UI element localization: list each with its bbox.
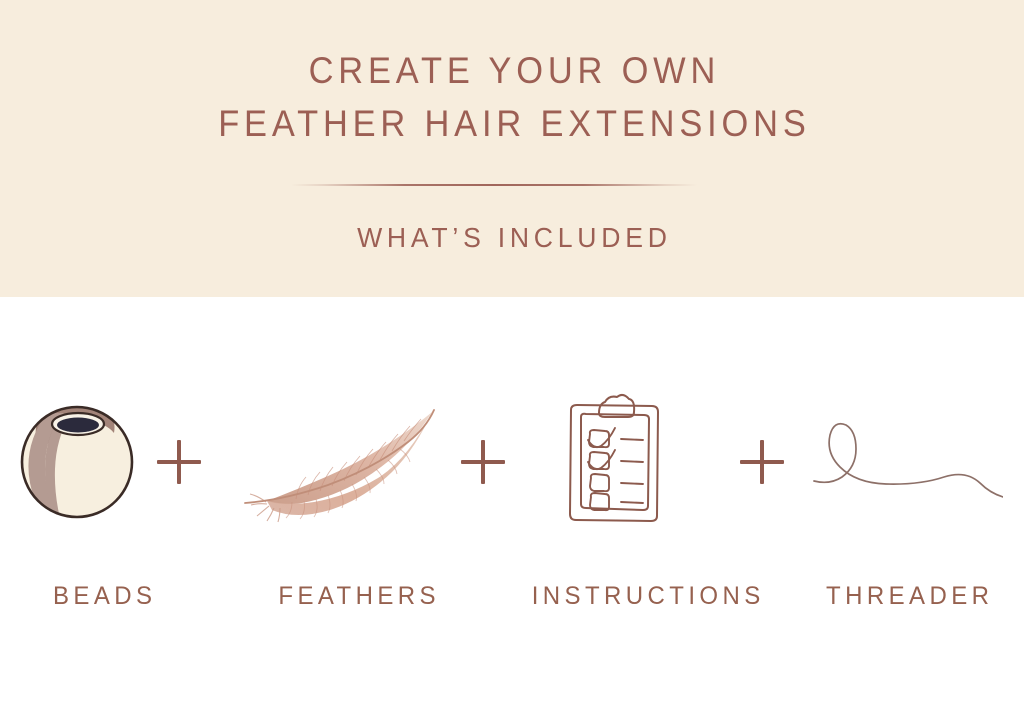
clipboard-board — [570, 405, 658, 521]
bead-icon — [14, 397, 140, 523]
bead-hole — [57, 418, 99, 433]
label-threader: THREADER — [800, 582, 1016, 611]
label-beads: BEADS — [4, 582, 201, 611]
clipboard-checklist-icon — [555, 390, 675, 530]
label-feathers: FEATHERS — [233, 582, 481, 611]
feather-icon — [236, 398, 451, 523]
divider-rule — [291, 184, 697, 186]
checklist-line-4 — [621, 502, 643, 503]
labels-row: BEADS FEATHERS INSTRUCTIONS THREADER — [0, 582, 1024, 622]
checkbox-3 — [590, 474, 609, 491]
title-line-2: FEATHER HAIR EXTENSIONS — [36, 97, 988, 150]
plus-icon — [461, 440, 505, 484]
item-threader — [800, 380, 1010, 540]
items-row — [0, 380, 1024, 540]
item-instructions — [530, 380, 700, 540]
page-title: CREATE YOUR OWN FEATHER HAIR EXTENSIONS — [0, 44, 1024, 150]
plus-icon — [740, 440, 784, 484]
subtitle: WHAT’S INCLUDED — [26, 222, 999, 254]
threader-wire-path — [814, 424, 1003, 497]
item-feathers — [228, 380, 458, 540]
checklist-line-1 — [621, 439, 643, 440]
promo-graphic: CREATE YOUR OWN FEATHER HAIR EXTENSIONS … — [0, 0, 1024, 724]
plus-icon — [157, 440, 201, 484]
label-instructions: INSTRUCTIONS — [506, 582, 786, 611]
checklist-line-2 — [621, 461, 643, 462]
header-band: CREATE YOUR OWN FEATHER HAIR EXTENSIONS … — [0, 0, 1024, 297]
threader-wire-icon — [808, 405, 1003, 515]
title-line-1: CREATE YOUR OWN — [36, 44, 988, 97]
checklist-line-3 — [621, 483, 643, 484]
item-beads — [2, 380, 152, 540]
